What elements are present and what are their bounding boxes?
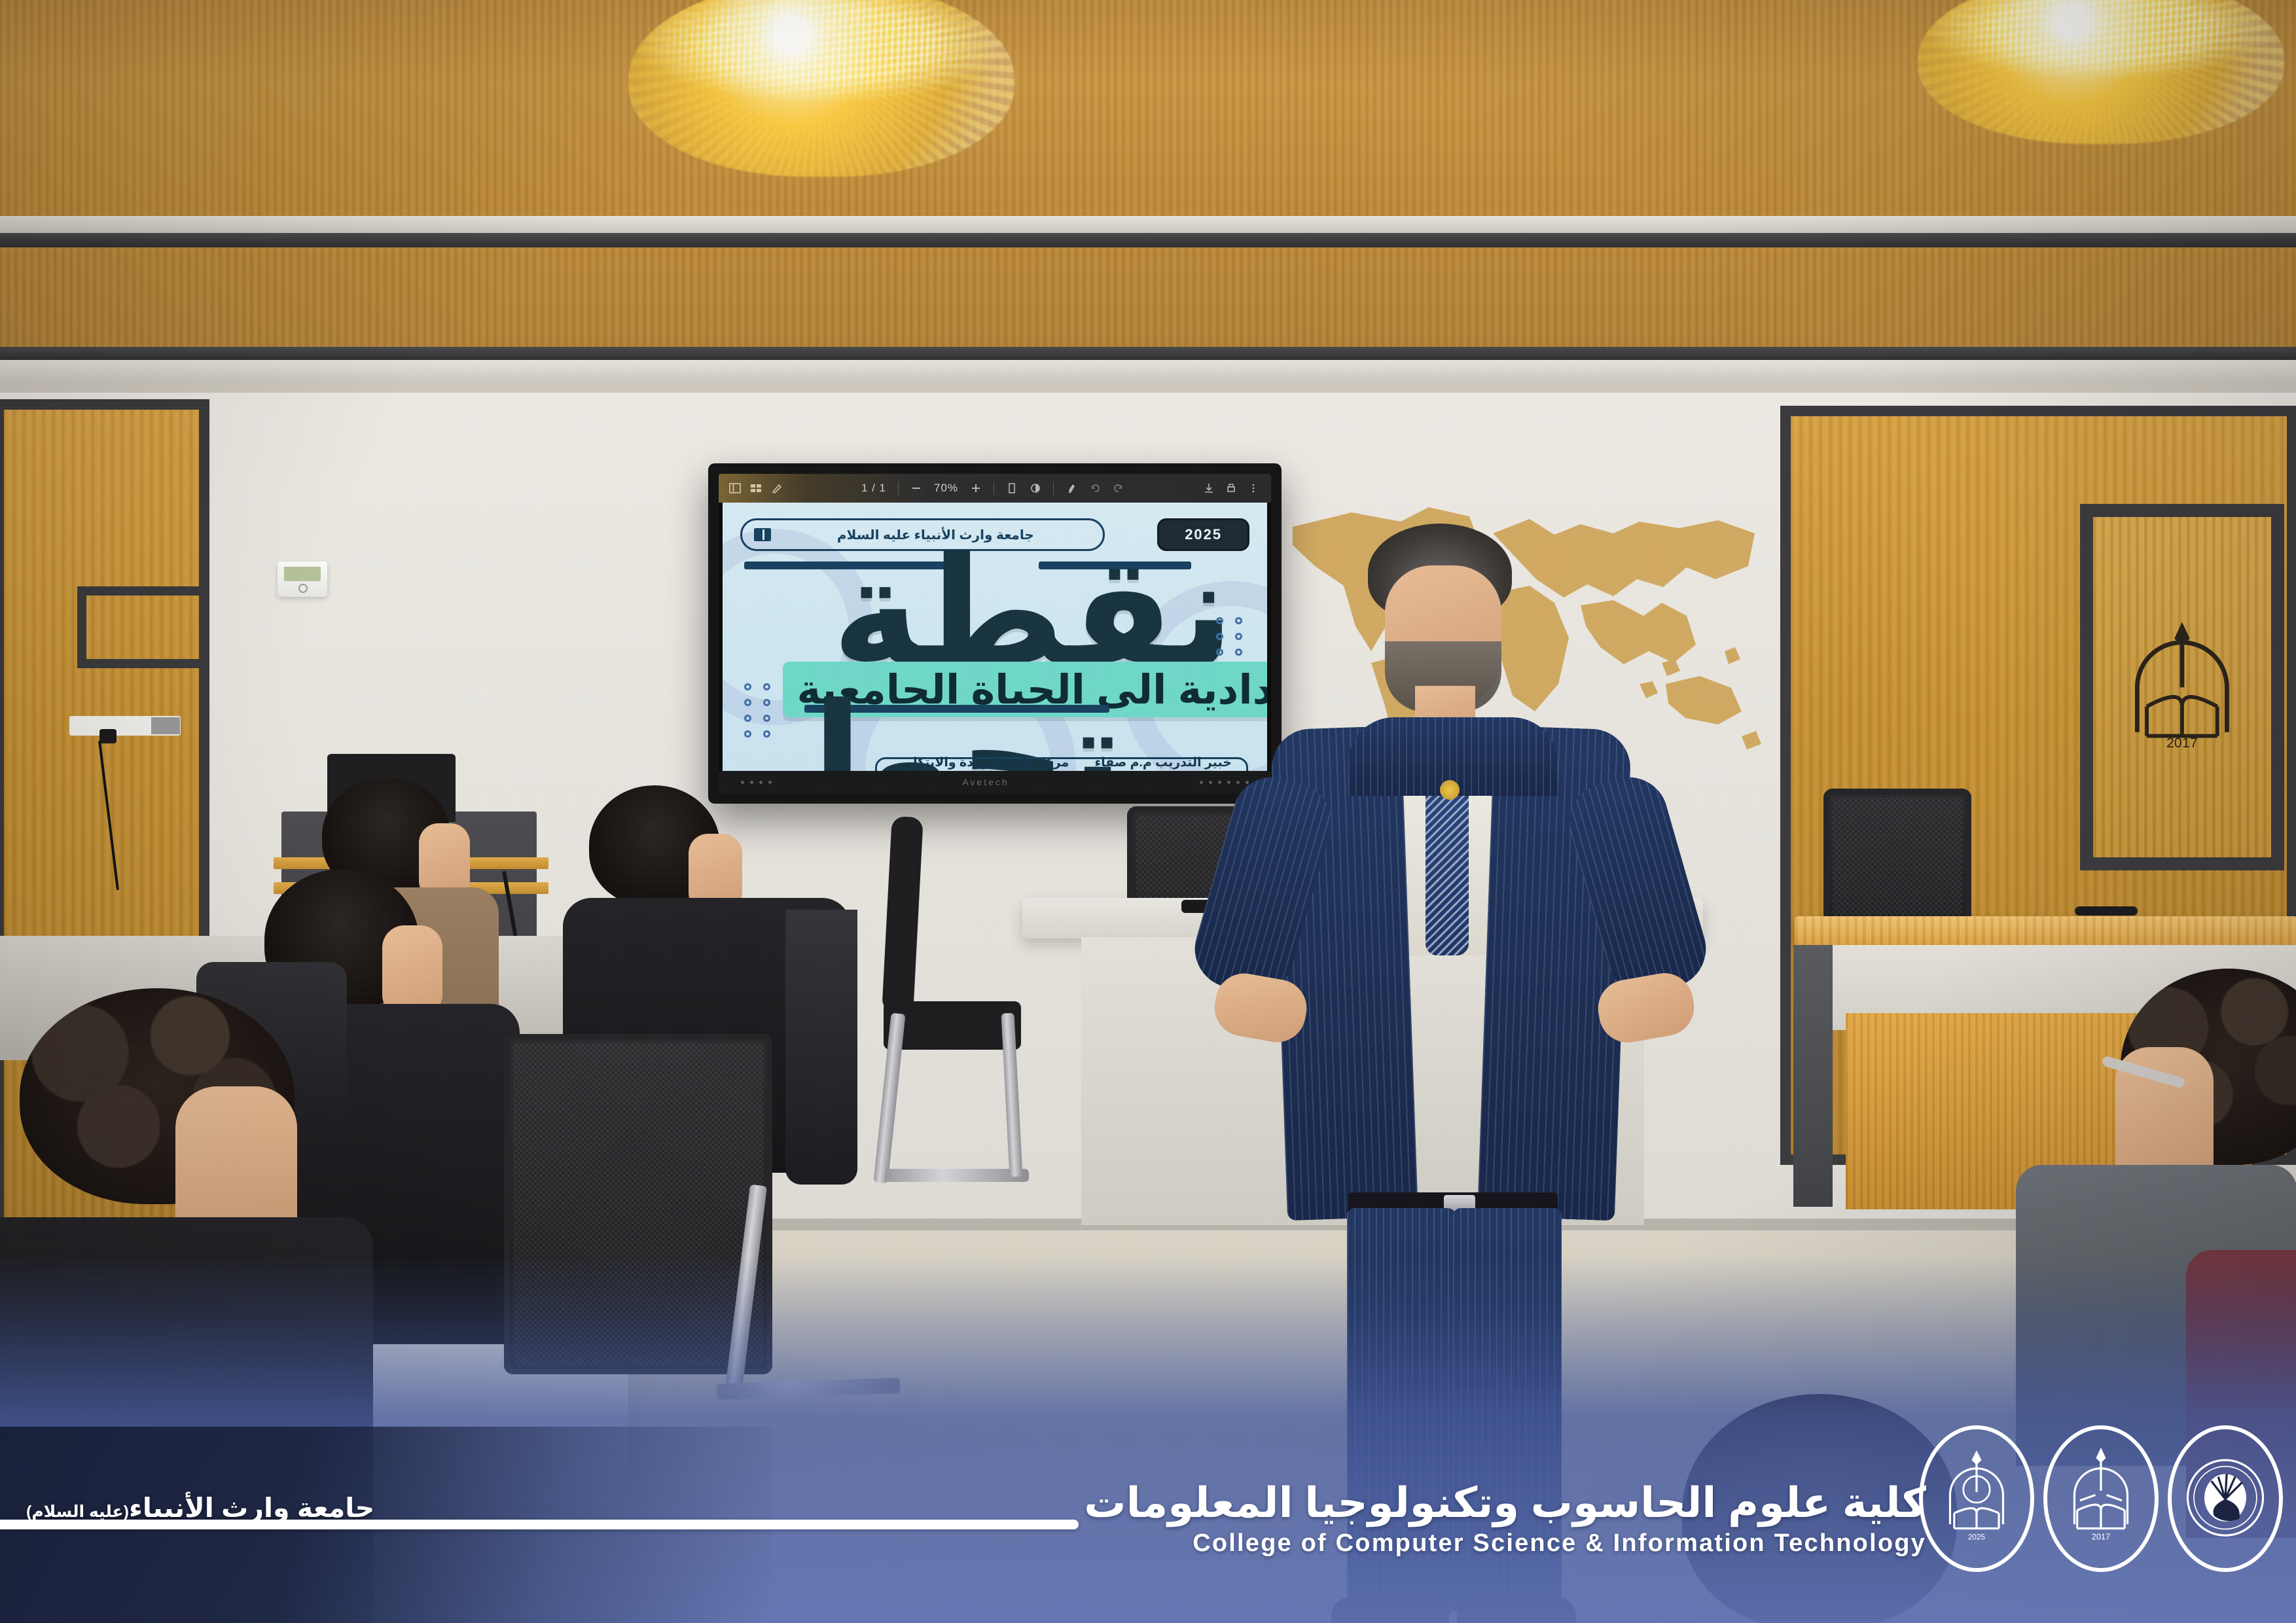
spacer xyxy=(1604,753,1610,759)
rotate-icon[interactable] xyxy=(1030,482,1041,494)
chandelier-right xyxy=(1918,0,2284,144)
chair-left-leg-base xyxy=(885,1169,1029,1182)
wall-thermostat[interactable] xyxy=(278,562,327,597)
footer-university-name-suffix: (عليه السلام) xyxy=(26,1503,129,1521)
face xyxy=(382,925,442,1017)
lapel-pin xyxy=(1440,780,1460,800)
display-indicator-leds-right xyxy=(1200,781,1249,784)
zoom-in-icon[interactable] xyxy=(970,482,982,494)
photo-canvas: 2017 xyxy=(0,0,2296,1623)
university-emblem-engraving: 2017 xyxy=(2118,565,2246,810)
footer-university-name: جامعة وارث الأنبياء(عليه السلام) xyxy=(26,1492,374,1524)
print-icon[interactable] xyxy=(1225,482,1237,494)
footer-college-english: College of Computer Science & Informatio… xyxy=(1084,1529,1926,1558)
footer-divider-rule xyxy=(0,1520,1079,1529)
right-desk-top xyxy=(1795,916,2296,946)
university-emblem-icon: 2017 xyxy=(2059,1444,2143,1552)
presentation-slide[interactable]: جامعة وارث الأنبياء عليه السلام 2025 نقط… xyxy=(723,503,1267,789)
torso xyxy=(0,1217,373,1623)
socket-vent xyxy=(151,717,180,734)
sidebar-icon[interactable] xyxy=(729,482,741,494)
display-indicator-leds xyxy=(741,781,772,784)
toolbar-divider-1 xyxy=(898,482,899,495)
redo-icon[interactable] xyxy=(1113,482,1124,494)
wall-trim-dark-1 xyxy=(0,233,2296,247)
university-emblem-logo: 2017 xyxy=(2043,1425,2159,1572)
wall-plaque-frame: 2017 xyxy=(2080,504,2284,870)
pier-inset-frame xyxy=(77,586,208,668)
slide-title-top: نقطة xyxy=(832,551,1234,675)
fit-page-icon[interactable] xyxy=(1006,482,1018,494)
college-emblem-icon: 2025 xyxy=(1935,1444,2018,1552)
plug xyxy=(99,729,117,743)
highlight-icon[interactable] xyxy=(1066,482,1077,494)
ministry-emblem-logo xyxy=(2168,1425,2283,1572)
chair-foreground-mesh[interactable] xyxy=(504,1034,772,1374)
wall-trim-dark-2 xyxy=(0,347,2296,360)
toolbar-divider-2 xyxy=(994,482,994,495)
right-desk-leg xyxy=(1793,945,1833,1207)
page-indicator: 1 / 1 xyxy=(861,482,886,495)
pen-on-desk[interactable] xyxy=(2075,906,2138,916)
thumbnail-icon[interactable] xyxy=(750,482,762,494)
wall-display[interactable]: 1 / 1 70% xyxy=(708,463,1282,804)
wall-trim-light-1 xyxy=(0,216,2296,233)
college-emblem-year: 2025 xyxy=(1968,1533,1986,1542)
university-emblem-year: 2017 xyxy=(2092,1532,2110,1542)
display-chin: Avetech xyxy=(719,771,1271,793)
download-icon[interactable] xyxy=(1203,482,1215,494)
college-emblem-logo: 2025 xyxy=(1919,1425,2034,1572)
more-icon[interactable] xyxy=(1247,482,1259,494)
svg-text:2017: 2017 xyxy=(2166,735,2198,751)
footer-logo-row: 2025 2017 xyxy=(1919,1425,2283,1572)
power-cable xyxy=(98,741,119,891)
zoom-out-icon[interactable] xyxy=(910,482,922,494)
presenter-shoe-left xyxy=(1331,1597,1449,1623)
toolbar-divider-3 xyxy=(1053,482,1054,495)
pdf-viewer-toolbar[interactable]: 1 / 1 70% xyxy=(719,474,1271,503)
undo-icon[interactable] xyxy=(1089,482,1101,494)
display-bezel: 1 / 1 70% xyxy=(719,474,1271,793)
wall-trim-light-2 xyxy=(0,360,2296,382)
thermostat-dial[interactable] xyxy=(298,584,308,593)
draw-icon[interactable] xyxy=(771,482,783,494)
book-icon xyxy=(754,528,771,541)
thermostat-display xyxy=(284,567,321,581)
zoom-level: 70% xyxy=(934,482,958,495)
footer-college-titles: كلية علوم الحاسوب وتكنولوجيا المعلومات C… xyxy=(1084,1480,1926,1558)
footer-university-name-main: جامعة وارث الأنبياء xyxy=(129,1493,374,1523)
display-brand-label: Avetech xyxy=(962,777,1009,787)
footer-college-arabic: كلية علوم الحاسوب وتكنولوجيا المعلومات xyxy=(1084,1480,1926,1525)
chandelier-left xyxy=(628,0,1014,177)
scarf xyxy=(785,910,857,1185)
presenter-shoe-right xyxy=(1457,1597,1576,1623)
ministry-emblem-icon xyxy=(2183,1444,2267,1552)
